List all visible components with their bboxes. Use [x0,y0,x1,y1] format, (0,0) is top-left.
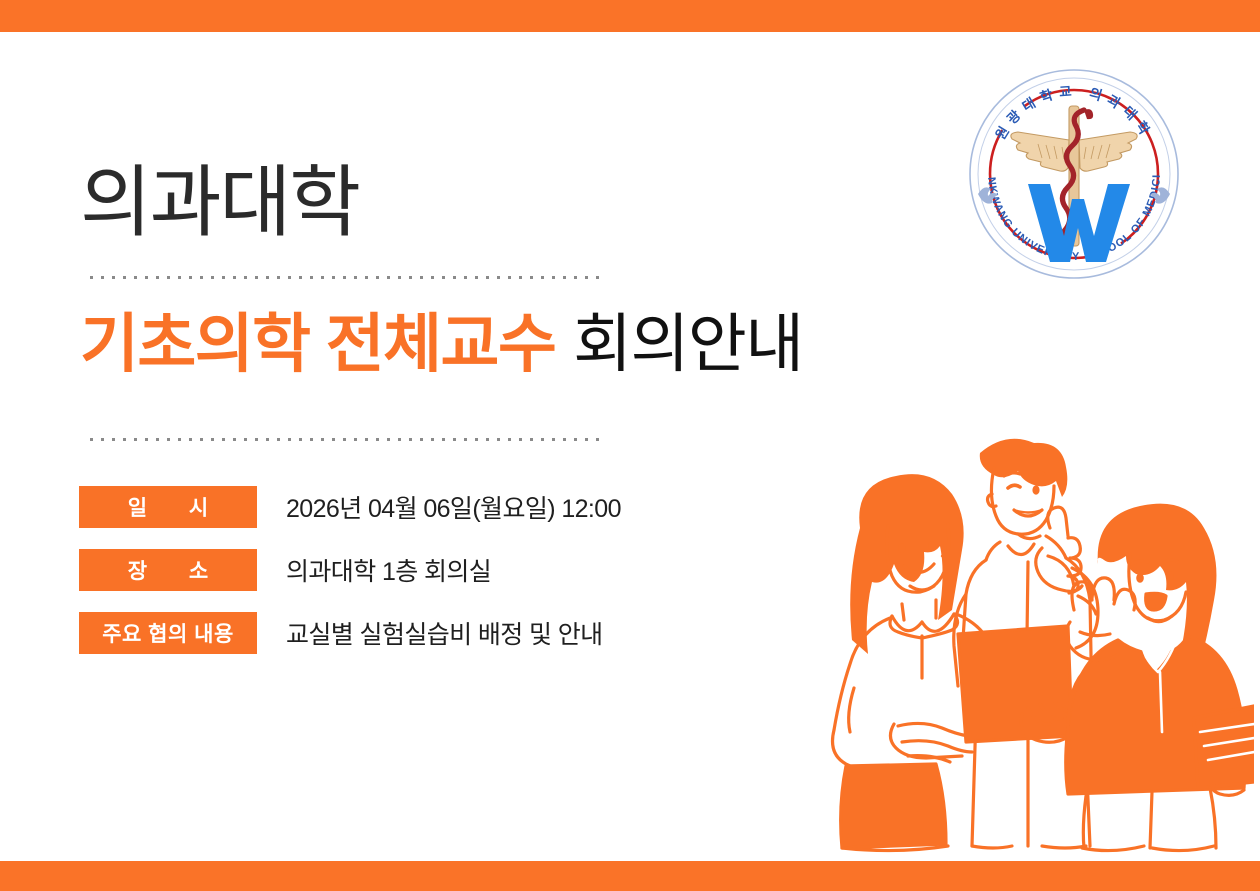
poster-root: 원광대학교 의과대학 WONKWANG UNIVERSITY SCHOOL OF… [0,0,1260,891]
wonkwang-university-school-of-medicine-emblem: 원광대학교 의과대학 WONKWANG UNIVERSITY SCHOOL OF… [966,66,1182,282]
info-value-location: 의과대학 1층 회의실 [286,552,491,588]
divider-dotted-bottom [90,438,602,441]
meeting-title-highlight: 기초의학 전체교수 [80,308,555,380]
info-value-datetime: 2026년 04월 06일(월요일) 12:00 [286,489,621,525]
info-label-agenda: 주요 협의 내용 [79,612,257,654]
info-label-datetime: 일 시 [79,486,257,528]
table-row: 장 소 의과대학 1층 회의실 [79,549,491,591]
table-row: 일 시 2026년 04월 06일(월요일) 12:00 [79,486,621,528]
page-title: 의과대학 [80,163,359,241]
info-value-agenda: 교실별 실험실습비 배정 및 안내 [286,615,603,651]
bottom-accent-bar [0,861,1260,891]
divider-dotted-top [90,276,602,279]
top-accent-bar [0,0,1260,32]
table-row: 주요 협의 내용 교실별 실험실습비 배정 및 안내 [79,612,603,654]
meeting-title-plain: 회의안내 [573,308,803,380]
meeting-title: 기초의학 전체교수 회의안내 [80,312,803,376]
three-people-discussion-illustration [742,436,1254,856]
info-label-location: 장 소 [79,549,257,591]
